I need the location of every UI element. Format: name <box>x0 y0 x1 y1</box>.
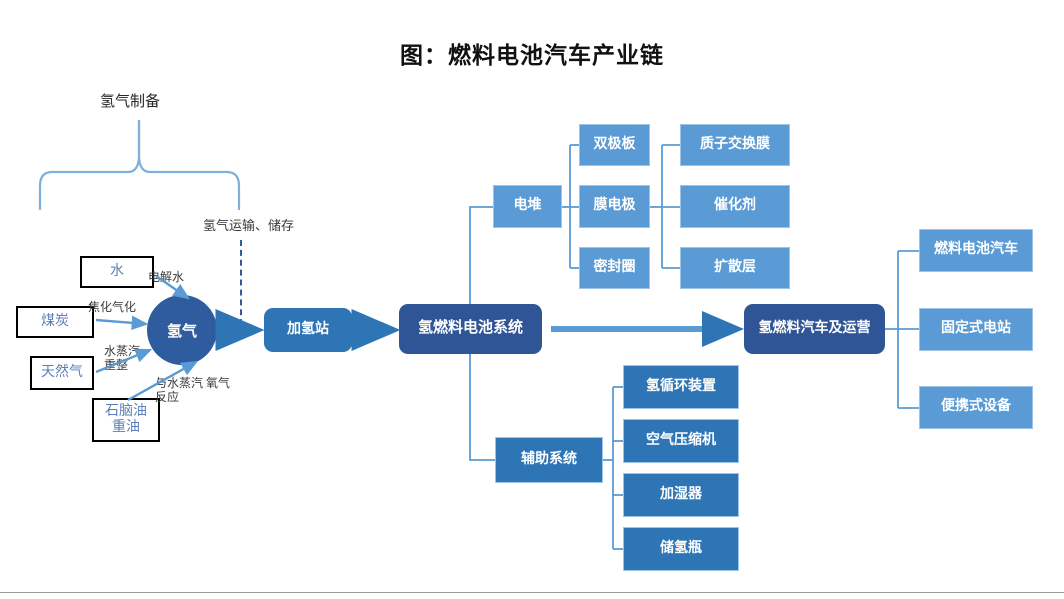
transport-storage-label: 氢气运输、储存 <box>203 218 294 233</box>
process-label-oxygen-reaction-2: 反应 <box>155 390 179 404</box>
node-bipolar-plate: 双极板 <box>579 124 650 166</box>
node-label-bipolar-plate: 双极板 <box>594 137 636 153</box>
node-label-proton-exchange-membrane: 质子交换膜 <box>700 137 770 153</box>
diagram-canvas: 图：燃料电池汽车产业链 氢气制备 氢气运输、储存 水 煤炭 天然气 石脑油 重油… <box>0 0 1064 599</box>
source-label-naphtha: 石脑油 <box>105 404 147 420</box>
source-box-natural-gas: 天然气 <box>30 356 94 390</box>
node-refueling-station: 加氢站 <box>264 308 352 352</box>
node-label-membrane-electrode: 膜电极 <box>594 198 636 214</box>
node-label-portable-device: 便携式设备 <box>941 399 1011 415</box>
source-box-water: 水 <box>80 256 154 288</box>
connector-system-to-stack <box>470 207 493 304</box>
source-label-natural-gas: 天然气 <box>41 365 83 381</box>
node-label-stack: 电堆 <box>514 198 542 214</box>
transport-storage-dashed-line <box>240 240 242 335</box>
hydrogen-production-label: 氢气制备 <box>100 94 160 112</box>
page-title: 图：燃料电池汽车产业链 <box>0 36 1064 70</box>
node-label-fuel-cell-system: 氢燃料电池系统 <box>418 320 523 337</box>
connector-overlay <box>0 0 1064 599</box>
node-label-hydrogen-storage-tank: 储氢瓶 <box>660 541 702 557</box>
source-label-water: 水 <box>110 264 124 280</box>
node-vehicle-operation: 氢燃料汽车及运营 <box>744 304 885 354</box>
process-label-coking-gasification: 焦化气化 <box>88 300 136 314</box>
node-stationary-power-station: 固定式电站 <box>919 308 1033 351</box>
node-label-stationary-power-station: 固定式电站 <box>941 321 1011 337</box>
node-label-auxiliary-system: 辅助系统 <box>521 452 577 468</box>
application-branch-connectors <box>885 251 919 408</box>
node-humidifier: 加湿器 <box>623 473 739 517</box>
node-air-compressor: 空气压缩机 <box>623 419 739 463</box>
node-hydrogen-recirculation: 氢循环装置 <box>623 365 739 409</box>
source-box-coal: 煤炭 <box>16 306 94 338</box>
node-diffusion-layer: 扩散层 <box>680 247 790 289</box>
connector-system-to-auxiliary <box>470 354 495 460</box>
process-label-steam-reforming-1: 水蒸汽 <box>104 344 140 358</box>
node-label-refueling-station: 加氢站 <box>287 322 329 338</box>
process-label-steam-reforming-2: 重整 <box>104 358 128 372</box>
arrow-coal-to-hydrogen <box>96 320 146 324</box>
node-hydrogen-storage-tank: 储氢瓶 <box>623 527 739 571</box>
node-membrane-electrode: 膜电极 <box>579 185 650 228</box>
node-catalyst: 催化剂 <box>680 185 790 228</box>
source-label-heavy-oil: 重油 <box>112 420 140 436</box>
process-label-oxygen-reaction-1: 与水蒸汽 氧气 <box>155 376 230 390</box>
node-fuel-cell-vehicle: 燃料电池汽车 <box>919 229 1033 272</box>
stack-branch-connectors <box>562 145 579 268</box>
hydrogen-node: 氢气 <box>147 295 217 365</box>
node-label-humidifier: 加湿器 <box>660 487 702 503</box>
node-label-sealing-ring: 密封圈 <box>594 260 636 276</box>
node-label-air-compressor: 空气压缩机 <box>646 433 716 449</box>
process-label-electrolysis: 电解水 <box>148 270 184 284</box>
source-label-coal: 煤炭 <box>41 314 69 330</box>
node-label-vehicle-operation: 氢燃料汽车及运营 <box>759 321 871 337</box>
mea-branch-connectors <box>650 145 680 268</box>
node-fuel-cell-system: 氢燃料电池系统 <box>399 304 542 354</box>
node-label-catalyst: 催化剂 <box>714 198 756 214</box>
hydrogen-production-brace <box>40 120 239 210</box>
node-stack: 电堆 <box>493 185 562 228</box>
hydrogen-node-label: 氢气 <box>167 320 197 341</box>
footer-divider <box>0 592 1064 593</box>
node-label-hydrogen-recirculation: 氢循环装置 <box>646 379 716 395</box>
node-sealing-ring: 密封圈 <box>579 247 650 289</box>
node-portable-device: 便携式设备 <box>919 386 1033 429</box>
node-proton-exchange-membrane: 质子交换膜 <box>680 124 790 166</box>
auxiliary-branch-connectors <box>603 387 623 549</box>
source-box-naphtha-heavy-oil: 石脑油 重油 <box>92 398 160 442</box>
node-label-fuel-cell-vehicle: 燃料电池汽车 <box>934 242 1018 258</box>
node-label-diffusion-layer: 扩散层 <box>714 260 756 276</box>
node-auxiliary-system: 辅助系统 <box>495 437 603 483</box>
